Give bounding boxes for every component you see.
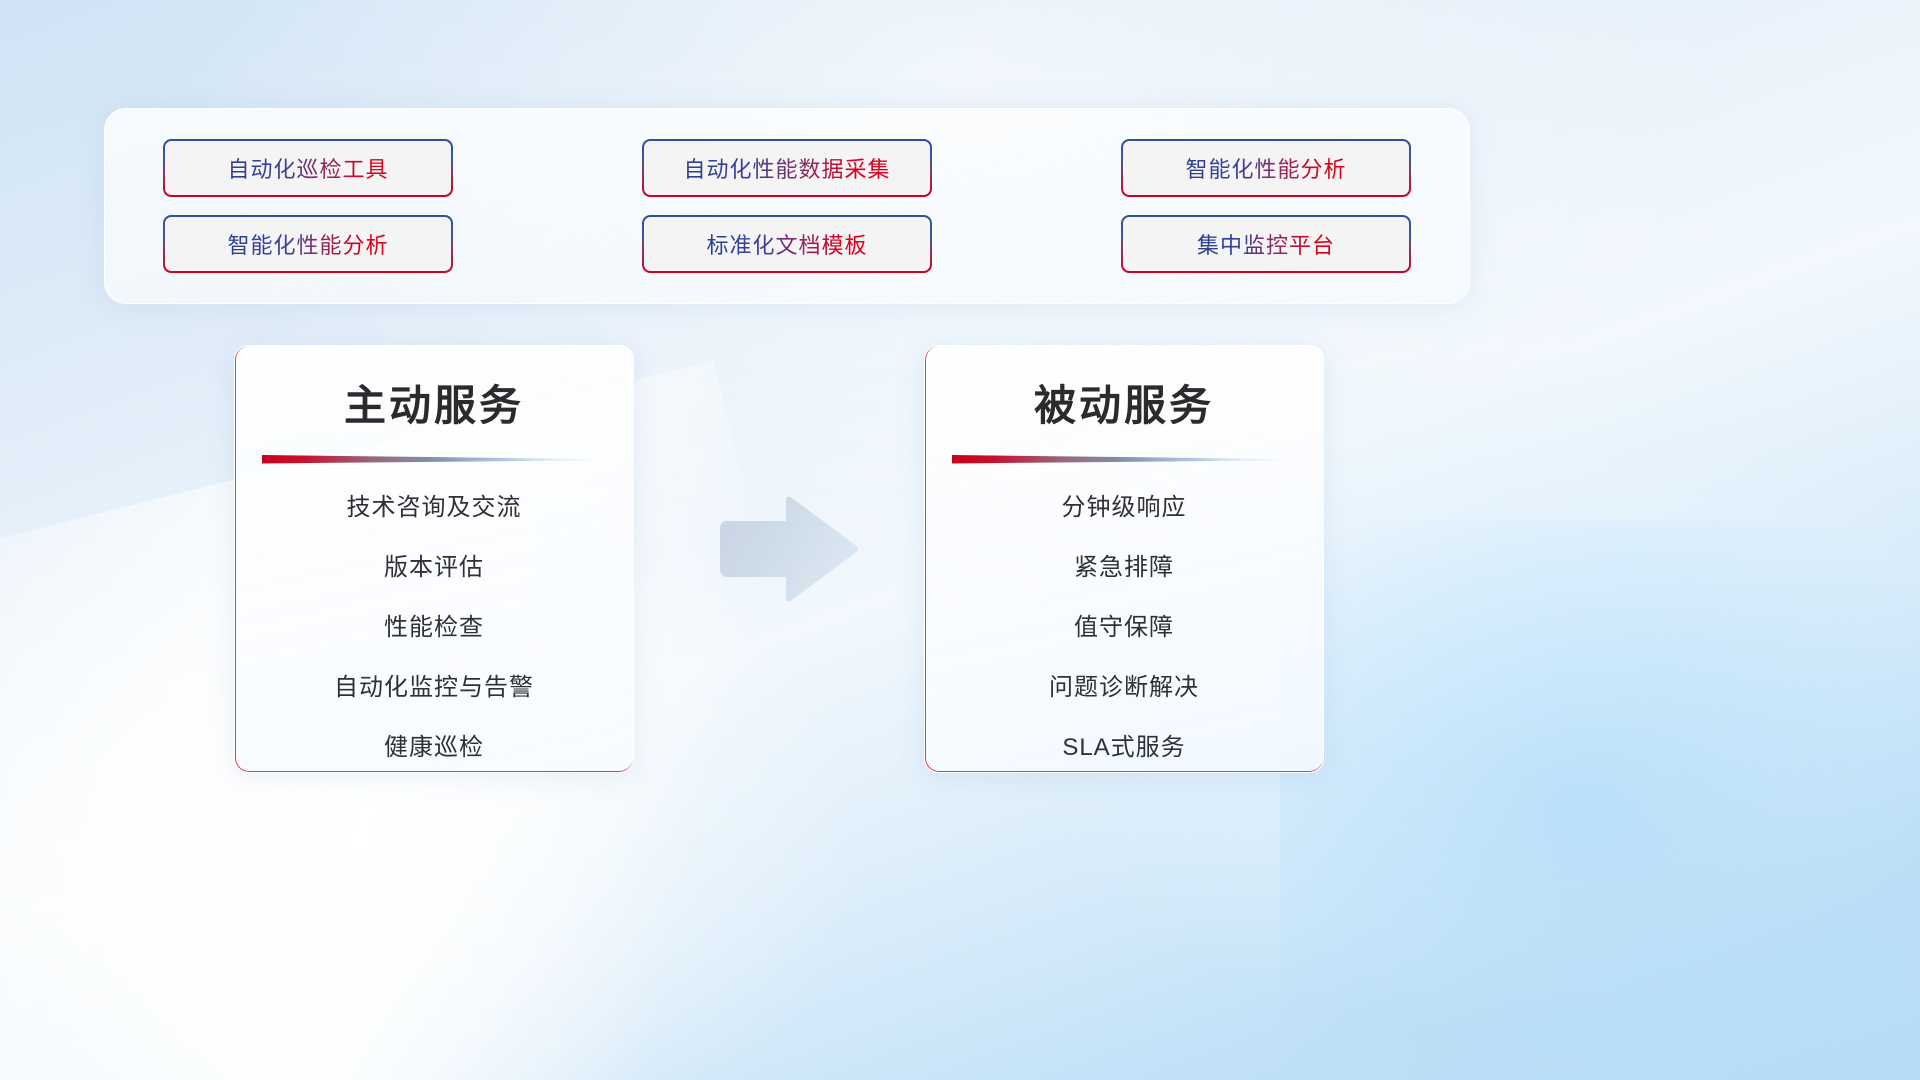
capability-chip-label: 自动化性能数据采集 <box>683 152 890 184</box>
service-list: 技术咨询及交流 版本评估 性能检查 自动化监控与告警 健康巡检 <box>235 487 633 762</box>
service-card-reactive: 被动服务 分钟级响应 紧急排障 <box>924 345 1324 773</box>
list-item: SLA式服务 <box>1062 727 1185 762</box>
capability-chip[interactable]: 智能化性能分析 <box>163 215 453 273</box>
capability-chip-label: 自动化巡检工具 <box>227 152 388 184</box>
list-item: 分钟级响应 <box>1062 487 1187 522</box>
list-item: 值守保障 <box>1074 607 1174 642</box>
list-item: 紧急排障 <box>1074 547 1174 582</box>
service-card-proactive: 主动服务 技术咨询及交流 版本评估 <box>234 345 634 773</box>
card-divider <box>952 453 1297 465</box>
capability-chip[interactable]: 智能化性能分析 <box>1121 139 1411 197</box>
capability-row-1: 自动化巡检工具 自动化性能数据采集 智能化性能分析 <box>163 139 1411 197</box>
list-item: 健康巡检 <box>384 727 484 762</box>
capability-chip[interactable]: 集中监控平台 <box>1121 215 1411 273</box>
capability-chip[interactable]: 标准化文档模板 <box>642 215 932 273</box>
capability-panel: 自动化巡检工具 自动化性能数据采集 智能化性能分析 智能化性能分析 标准化文档模… <box>104 108 1470 304</box>
capability-chip[interactable]: 自动化巡检工具 <box>163 139 453 197</box>
capability-chip[interactable]: 自动化性能数据采集 <box>642 139 932 197</box>
slide-canvas: 自动化巡检工具 自动化性能数据采集 智能化性能分析 智能化性能分析 标准化文档模… <box>0 0 1920 1080</box>
capability-chip-label: 标准化文档模板 <box>706 228 867 260</box>
list-item: 性能检查 <box>384 607 484 642</box>
list-item: 问题诊断解决 <box>1049 667 1199 702</box>
capability-chip-label: 智能化性能分析 <box>1185 152 1346 184</box>
list-item: 技术咨询及交流 <box>347 487 522 522</box>
capability-chip-label: 集中监控平台 <box>1197 228 1335 260</box>
capability-row-2: 智能化性能分析 标准化文档模板 集中监控平台 <box>163 215 1411 273</box>
card-divider <box>262 453 607 465</box>
list-item: 自动化监控与告警 <box>334 667 534 702</box>
card-title: 主动服务 <box>235 372 633 433</box>
card-title: 被动服务 <box>925 372 1323 433</box>
service-list: 分钟级响应 紧急排障 值守保障 问题诊断解决 SLA式服务 <box>925 487 1323 762</box>
capability-chip-label: 智能化性能分析 <box>227 228 388 260</box>
list-item: 版本评估 <box>384 547 484 582</box>
arrow-right-icon <box>712 495 860 607</box>
